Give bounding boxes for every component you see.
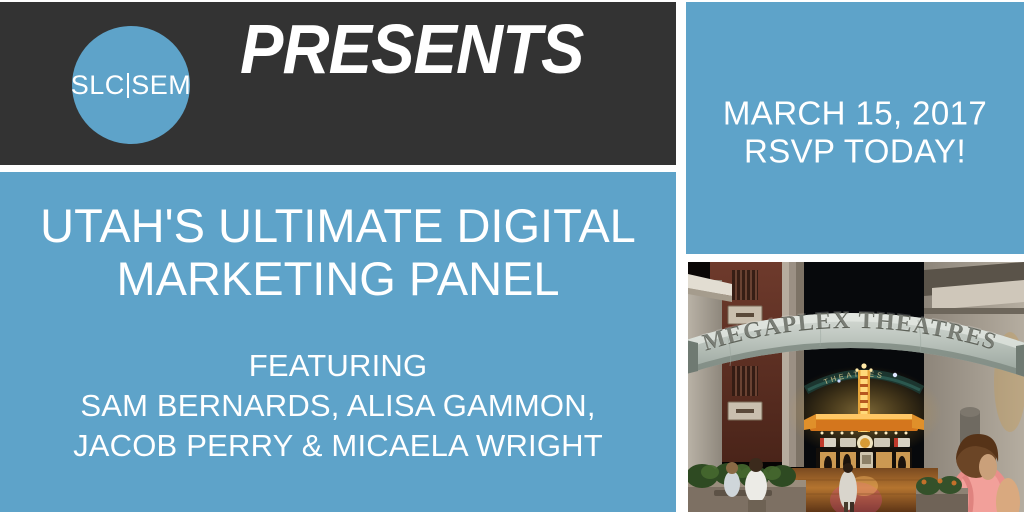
date-block: MARCH 15, 2017 RSVP TODAY! <box>686 95 1024 172</box>
speakers-line-1: SAM BERNARDS, ALISA GAMMON, <box>10 386 666 426</box>
speakers-line-2: JACOB PERRY & MICAELA WRIGHT <box>10 426 666 466</box>
presents-heading-text: PRESENTS <box>240 14 583 84</box>
date-panel: MARCH 15, 2017 RSVP TODAY! <box>686 2 1024 254</box>
slcsem-logo-badge: SLC SEM <box>72 26 190 144</box>
presents-heading: PRESENTS <box>240 49 609 119</box>
logo-text-slc: SLC <box>71 72 125 99</box>
megaplex-theatres-photo: THEATRES <box>688 262 1024 512</box>
presents-panel: SLC SEM PRESENTS <box>0 2 676 165</box>
headline-panel: UTAH'S ULTIMATE DIGITAL MARKETING PANEL … <box>0 172 676 512</box>
logo-text-sem: SEM <box>131 72 191 99</box>
featuring-label: FEATURING <box>10 346 666 386</box>
event-promo-poster: SLC SEM PRESENTS MARCH 15, 2017 RSVP TOD… <box>0 0 1024 512</box>
rsvp-callout: RSVP TODAY! <box>686 133 1024 171</box>
title-line-1: UTAH'S ULTIMATE DIGITAL <box>14 200 662 253</box>
page-title: UTAH'S ULTIMATE DIGITAL MARKETING PANEL <box>14 200 662 305</box>
title-line-2: MARKETING PANEL <box>14 253 662 306</box>
event-date: MARCH 15, 2017 <box>686 95 1024 133</box>
featuring-block: FEATURING SAM BERNARDS, ALISA GAMMON, JA… <box>10 346 666 466</box>
logo-divider-bar <box>127 73 129 98</box>
slcsem-logo-wordmark: SLC SEM <box>71 72 192 99</box>
venue-photo: THEATRES <box>688 262 1024 512</box>
